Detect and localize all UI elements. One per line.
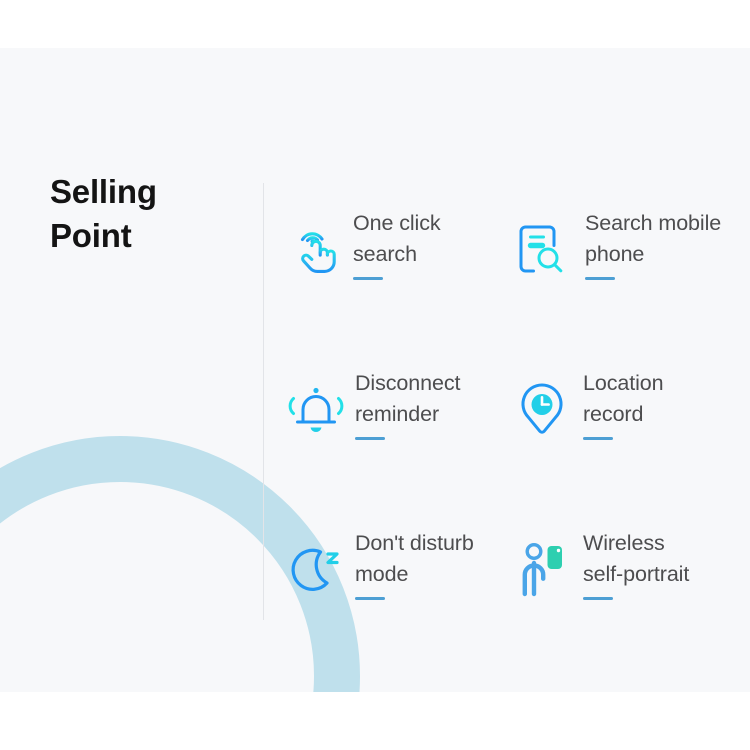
feature-text-block: Wireless self-portrait <box>583 528 689 600</box>
dont-disturb-mode-icon <box>287 538 345 600</box>
feature-label: Don't disturb mode <box>355 528 474 589</box>
feature-item-wireless-self-portrait[interactable]: Wireless self-portrait <box>509 490 750 650</box>
feature-item-search-mobile-phone[interactable]: Search mobile phone <box>509 170 750 330</box>
feature-underline <box>353 277 383 280</box>
feature-label: One click search <box>353 208 441 269</box>
feature-text-block: Don't disturb mode <box>355 528 474 600</box>
feature-item-disconnect-reminder[interactable]: Disconnect reminder <box>287 330 509 490</box>
feature-item-dont-disturb-mode[interactable]: Don't disturb mode <box>287 490 509 650</box>
feature-text-block: Location record <box>583 368 664 440</box>
feature-underline <box>583 437 613 440</box>
page-title: Selling Point <box>50 170 240 257</box>
vertical-divider <box>263 183 264 620</box>
feature-text-block: Disconnect reminder <box>355 368 460 440</box>
feature-label: Disconnect reminder <box>355 368 460 429</box>
product-feature-infographic: Selling Point <box>0 0 750 750</box>
feature-underline <box>355 597 385 600</box>
feature-label: Location record <box>583 368 664 429</box>
feature-grid: One click search <box>287 170 750 640</box>
feature-underline <box>585 277 615 280</box>
feature-text-block: One click search <box>353 208 441 280</box>
one-click-search-icon <box>287 218 345 280</box>
feature-text-block: Search mobile phone <box>585 208 721 280</box>
location-record-icon <box>513 378 571 440</box>
search-mobile-phone-icon <box>513 218 571 280</box>
wireless-self-portrait-icon <box>515 538 573 600</box>
feature-item-location-record[interactable]: Location record <box>509 330 750 490</box>
feature-underline <box>583 597 613 600</box>
disconnect-reminder-icon <box>287 378 345 440</box>
feature-label: Search mobile phone <box>585 208 721 269</box>
feature-card: Selling Point <box>0 48 750 692</box>
feature-item-one-click-search[interactable]: One click search <box>287 170 509 330</box>
feature-label: Wireless self-portrait <box>583 528 689 589</box>
feature-underline <box>355 437 385 440</box>
